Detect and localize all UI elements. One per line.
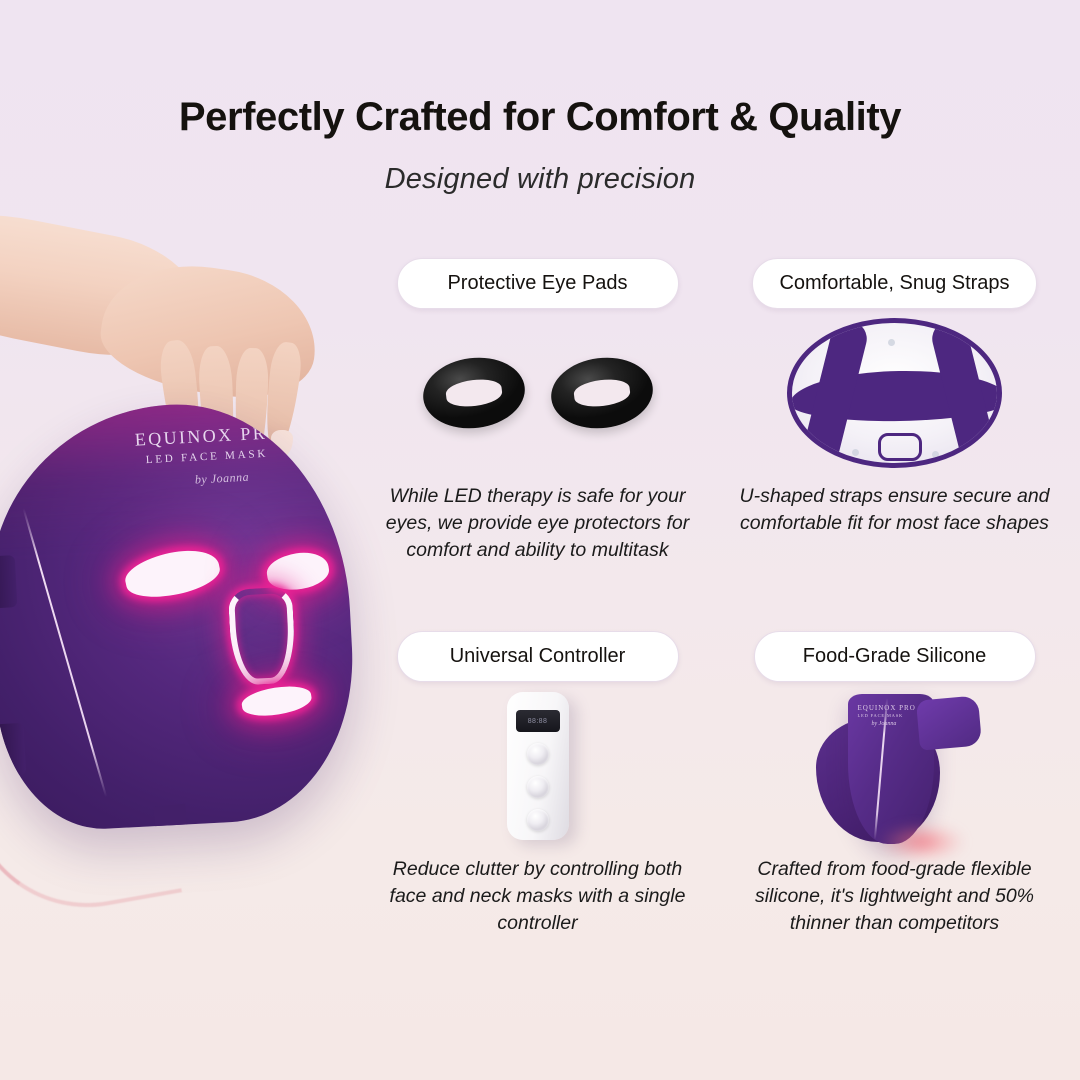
feature-caption-controller: Reduce clutter by controlling both face …	[383, 856, 693, 937]
interior-nose-arch	[878, 433, 922, 461]
feature-art-eye-pads	[380, 309, 695, 477]
led-dot	[888, 339, 895, 346]
eye-pad-opening	[572, 377, 631, 410]
feature-caption-straps: U-shaped straps ensure secure and comfor…	[740, 483, 1050, 537]
mask-power-cord	[0, 774, 182, 926]
feature-caption-silicone: Crafted from food-grade flexible silicon…	[740, 856, 1050, 937]
eye-pad-icon	[547, 352, 657, 434]
hero-product-photo: EQUINOX PRO LED FACE MASK by Joanna	[0, 190, 392, 930]
controller-button-1[interactable]	[527, 743, 549, 765]
feature-art-controller: 88:88	[380, 682, 695, 850]
feature-grid: Protective Eye Pads While LED therapy is…	[380, 258, 1052, 998]
feature-caption-eye-pads: While LED therapy is safe for your eyes,…	[383, 483, 693, 564]
mask-mouth-cutout	[240, 682, 313, 720]
silicone-brand-print: EQUINOX PRO LED FACE MASK by Joanna	[858, 704, 916, 728]
feature-label-eye-pads[interactable]: Protective Eye Pads	[397, 258, 679, 309]
eye-pad-opening	[444, 377, 503, 410]
feature-label-straps[interactable]: Comfortable, Snug Straps	[752, 258, 1036, 309]
feature-card-straps: Comfortable, Snug Straps	[737, 258, 1052, 625]
feature-card-eye-pads: Protective Eye Pads While LED therapy is…	[380, 258, 695, 625]
mask-nose-cutout	[228, 587, 297, 686]
led-dot	[852, 449, 859, 456]
silicone-led-glow	[866, 826, 978, 866]
silicone-brand-line-1: EQUINOX PRO	[858, 704, 916, 713]
controller-button-2[interactable]	[527, 776, 549, 798]
led-face-mask: EQUINOX PRO LED FACE MASK by Joanna	[0, 396, 361, 834]
silicone-mask-flap	[915, 695, 981, 750]
feature-label-silicone[interactable]: Food-Grade Silicone	[754, 631, 1036, 682]
mask-left-eye-cutout	[122, 543, 224, 604]
feature-art-straps	[737, 309, 1052, 477]
eye-pad-icon	[419, 352, 529, 434]
remote-controller: 88:88	[507, 692, 569, 840]
mask-interior-panel	[787, 318, 1002, 468]
silicone-brand-signature: by Joanna	[858, 720, 916, 728]
feature-art-silicone: EQUINOX PRO LED FACE MASK by Joanna	[737, 682, 1052, 850]
controller-screen: 88:88	[516, 710, 560, 732]
mask-strap-tab	[0, 555, 17, 608]
feature-card-silicone: Food-Grade Silicone EQUINOX PRO LED FACE…	[737, 631, 1052, 998]
controller-button-3[interactable]	[527, 809, 549, 831]
feature-label-controller[interactable]: Universal Controller	[397, 631, 679, 682]
mask-brand-print: EQUINOX PRO LED FACE MASK by Joanna	[134, 420, 327, 491]
led-dot	[932, 451, 939, 458]
feature-card-controller: Universal Controller 88:88 Reduce clutte…	[380, 631, 695, 998]
mask-strap-tab	[0, 723, 26, 776]
page-title: Perfectly Crafted for Comfort & Quality	[0, 95, 1080, 140]
